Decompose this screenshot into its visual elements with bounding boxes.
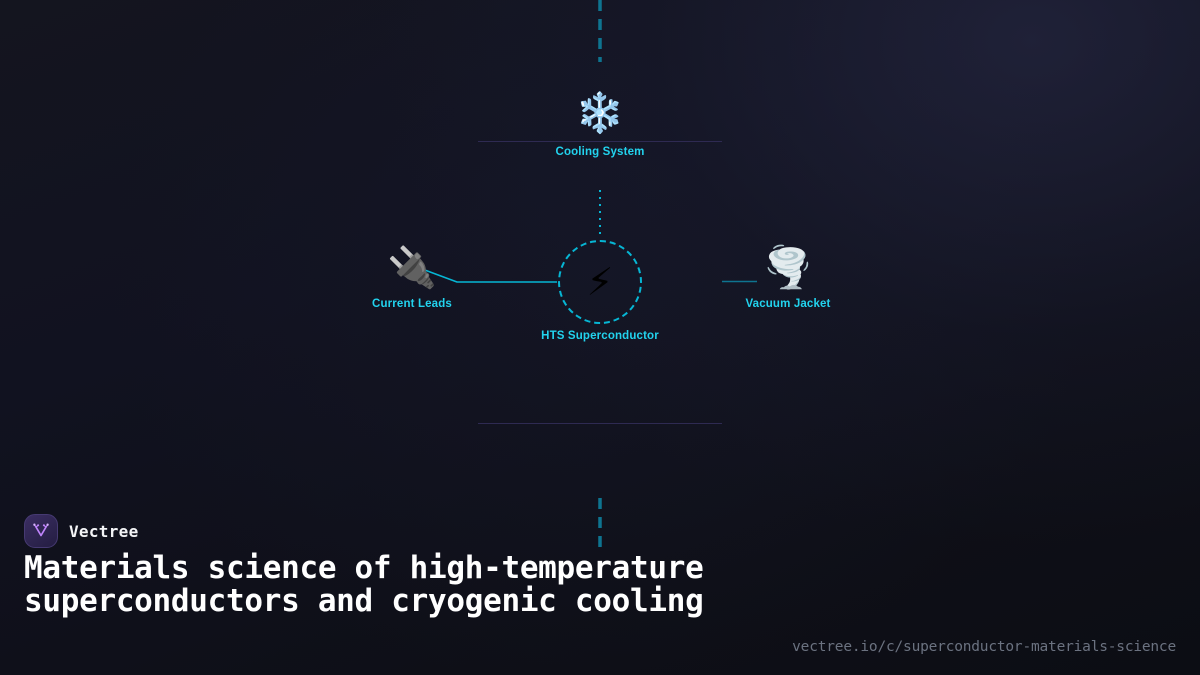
node-label-cooling-system: Cooling System (520, 146, 680, 158)
vectree-logo-icon (24, 514, 58, 548)
lightning-bolt-icon: ⚡ (587, 263, 614, 301)
node-label-vacuum-jacket: Vacuum Jacket (708, 298, 868, 310)
footer: Vectree Materials science of high-temper… (0, 490, 1200, 675)
diagram-node-cooling-system[interactable]: ❄️ Cooling System (520, 94, 680, 158)
diagram-node-current-leads[interactable]: 🔌 Current Leads (332, 248, 492, 310)
diagram-node-hts-superconductor[interactable]: ⚡ HTS Superconductor (520, 240, 680, 342)
snowflake-icon: ❄️ (520, 94, 680, 133)
page-url: vectree.io/c/superconductor-materials-sc… (792, 639, 1176, 655)
vectree-logo-glyph (31, 521, 51, 541)
brand[interactable]: Vectree (24, 514, 139, 548)
page-title: Materials science of high-temperature su… (24, 552, 724, 618)
diagram-node-vacuum-jacket[interactable]: 🌪️ Vacuum Jacket (708, 248, 868, 310)
node-label-hts-superconductor: HTS Superconductor (520, 330, 680, 342)
tornado-icon: 🌪️ (708, 248, 868, 288)
brand-name: Vectree (69, 522, 139, 541)
node-label-current-leads: Current Leads (332, 298, 492, 310)
hts-dashed-ring: ⚡ (558, 240, 642, 324)
electric-plug-icon: 🔌 (332, 248, 492, 288)
